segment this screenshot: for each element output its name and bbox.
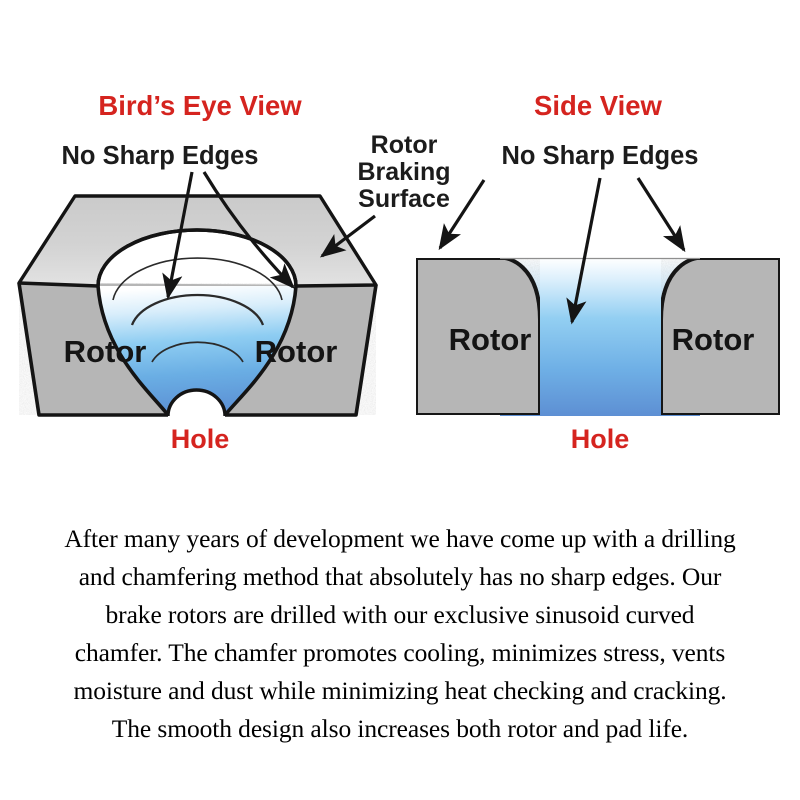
birds-eye-view-title: Bird’s Eye View bbox=[98, 90, 302, 121]
rotor-word-right-b: Rotor bbox=[672, 322, 755, 357]
caption-line: brake rotors are drilled with our exclus… bbox=[0, 596, 800, 634]
top-face-shape bbox=[19, 196, 376, 286]
caption-paragraph: After many years of development we have … bbox=[0, 520, 800, 748]
no-sharp-edges-label-left: No Sharp Edges bbox=[62, 142, 259, 170]
caption-line: chamfer. The chamfer promotes cooling, m… bbox=[0, 634, 800, 672]
rotor-braking-surface-label-line1: Rotor bbox=[371, 131, 438, 159]
hole-label-right: Hole bbox=[571, 424, 630, 454]
rotor-chamfer-illustration: Bird’s Eye View No Sharp Edges Rotor Bra… bbox=[0, 0, 800, 480]
caption-line: moisture and dust while minimizing heat … bbox=[0, 672, 800, 710]
rotor-word-right-a: Rotor bbox=[449, 322, 532, 357]
caption-line: and chamfering method that absolutely ha… bbox=[0, 558, 800, 596]
birds-eye-view-group: Bird’s Eye View No Sharp Edges Rotor Bra… bbox=[19, 90, 451, 454]
hole-label-left: Hole bbox=[171, 424, 230, 454]
caption-line: The smooth design also increases both ro… bbox=[0, 710, 800, 748]
rotor-word-left-b: Rotor bbox=[255, 334, 338, 369]
rotor-braking-surface-label-line2: Braking bbox=[357, 158, 450, 186]
rotor-word-left-a: Rotor bbox=[64, 334, 147, 369]
caption-line: After many years of development we have … bbox=[0, 520, 800, 558]
side-view-group: Side View No Sharp Edges Rotor Rotor Hol… bbox=[416, 90, 780, 454]
rotor-braking-surface-face bbox=[19, 196, 376, 286]
no-sharp-edges-label-right: No Sharp Edges bbox=[502, 142, 699, 170]
page-root: Bird’s Eye View No Sharp Edges Rotor Bra… bbox=[0, 0, 800, 800]
no-sharp-edges-arrow-right-side bbox=[638, 178, 684, 250]
side-view-title: Side View bbox=[534, 90, 662, 121]
rotor-braking-surface-label-line3: Surface bbox=[358, 185, 450, 213]
no-sharp-edges-arrow-left bbox=[168, 172, 192, 297]
diagram-area: Bird’s Eye View No Sharp Edges Rotor Bra… bbox=[0, 0, 800, 480]
